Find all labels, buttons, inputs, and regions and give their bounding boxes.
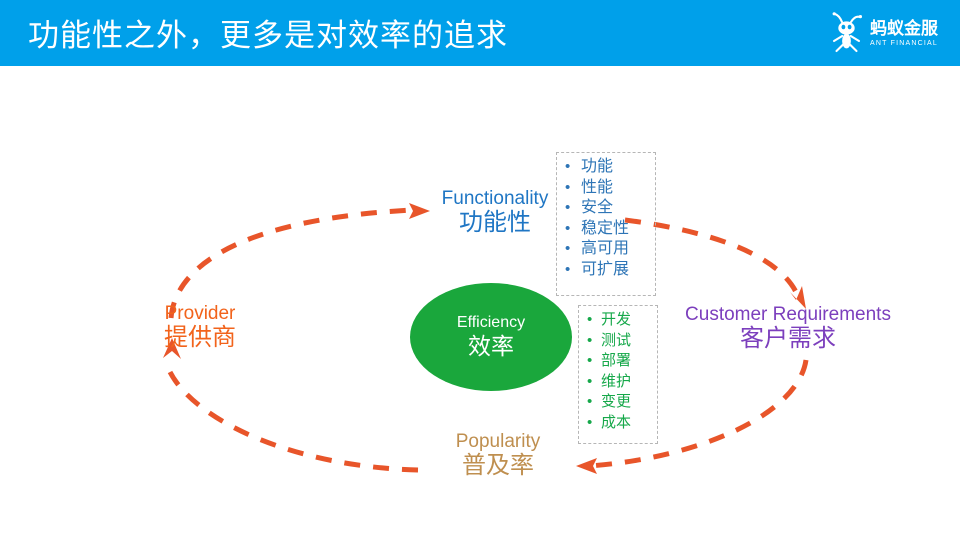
arrowhead-popularity: [576, 458, 597, 474]
list-item: •部署: [587, 351, 651, 372]
bullet-icon: •: [565, 198, 581, 219]
list-item-label: 部署: [601, 351, 631, 371]
brand-text: 蚂蚁金服 ANT FINANCIAL: [870, 20, 938, 47]
list-item: •维护: [587, 372, 651, 393]
list-item-label: 性能: [581, 178, 613, 199]
list-item: •可扩展: [565, 260, 649, 281]
list-item-label: 高可用: [581, 239, 629, 260]
brand-name-en: ANT FINANCIAL: [870, 40, 938, 47]
functionality-attributes-list: •功能 •性能 •安全 •稳定性 •高可用 •可扩展: [565, 157, 649, 281]
node-provider: Provider 提供商: [128, 303, 272, 352]
efficiency-node: Efficiency 效率: [410, 283, 572, 391]
brand-name-cn: 蚂蚁金服: [870, 20, 938, 37]
list-item: •测试: [587, 331, 651, 352]
header-bar: 功能性之外，更多是对效率的追求: [0, 0, 960, 66]
list-item-label: 可扩展: [581, 260, 629, 281]
node-popularity-label-en: Popularity: [424, 431, 572, 452]
node-customer-label-en: Customer Requirements: [673, 304, 903, 325]
cycle-diagram: Efficiency 效率 Functionality 功能性 Customer…: [0, 66, 960, 540]
list-item-label: 维护: [601, 372, 631, 392]
node-functionality-label-en: Functionality: [420, 188, 570, 209]
bullet-icon: •: [565, 157, 581, 178]
node-provider-label-en: Provider: [128, 303, 272, 324]
bullet-icon: •: [587, 413, 601, 434]
list-item-label: 安全: [581, 198, 613, 219]
bullet-icon: •: [565, 239, 581, 260]
list-item: •变更: [587, 392, 651, 413]
list-item-label: 成本: [601, 413, 631, 433]
ant-icon: [830, 12, 864, 54]
bullet-icon: •: [565, 260, 581, 281]
list-item: •安全: [565, 198, 649, 219]
list-item: •性能: [565, 178, 649, 199]
node-customer-label-cn: 客户需求: [673, 326, 903, 353]
list-item: •功能: [565, 157, 649, 178]
bullet-icon: •: [565, 178, 581, 199]
bullet-icon: •: [587, 351, 601, 372]
brand-logo: 蚂蚁金服 ANT FINANCIAL: [830, 11, 938, 55]
efficiency-activities-box: •开发 •测试 •部署 •维护 •变更 •成本: [578, 305, 658, 444]
node-functionality-label-cn: 功能性: [420, 210, 570, 237]
node-functionality: Functionality 功能性: [420, 188, 570, 237]
node-popularity-label-cn: 普及率: [424, 453, 572, 480]
arrow-popularity-to-provider: [170, 372, 418, 470]
bullet-icon: •: [587, 331, 601, 352]
arrow-provider-to-functionality: [171, 210, 413, 318]
efficiency-label-en: Efficiency: [457, 314, 525, 332]
list-item: •稳定性: [565, 219, 649, 240]
list-item: •高可用: [565, 239, 649, 260]
list-item: •开发: [587, 310, 651, 331]
node-customer-requirements: Customer Requirements 客户需求: [673, 304, 903, 353]
list-item-label: 变更: [601, 392, 631, 412]
node-popularity: Popularity 普及率: [424, 431, 572, 480]
bullet-icon: •: [587, 372, 601, 393]
efficiency-label-cn: 效率: [468, 333, 514, 361]
page-title: 功能性之外，更多是对效率的追求: [28, 10, 508, 55]
bullet-icon: •: [587, 310, 601, 331]
list-item-label: 测试: [601, 331, 631, 351]
bullet-icon: •: [587, 392, 601, 413]
node-provider-label-cn: 提供商: [128, 325, 272, 352]
list-item-label: 稳定性: [581, 219, 629, 240]
bullet-icon: •: [565, 219, 581, 240]
functionality-attributes-box: •功能 •性能 •安全 •稳定性 •高可用 •可扩展: [556, 152, 656, 296]
efficiency-activities-list: •开发 •测试 •部署 •维护 •变更 •成本: [587, 310, 651, 434]
list-item: •成本: [587, 413, 651, 434]
list-item-label: 功能: [581, 157, 613, 178]
list-item-label: 开发: [601, 310, 631, 330]
